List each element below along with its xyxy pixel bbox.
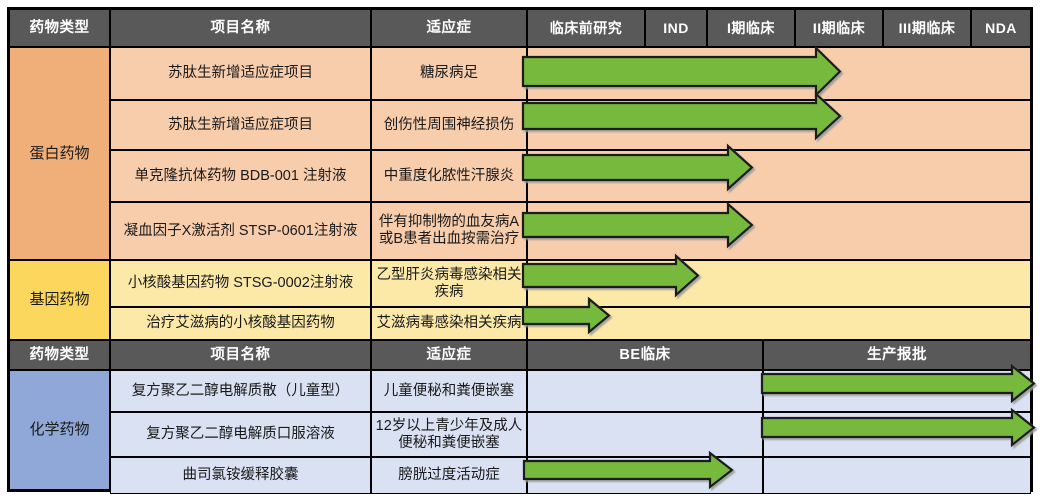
- header-phase3: III期临床: [883, 9, 971, 47]
- pipeline-table: 药物类型 项目名称 适应症 临床前研究 IND I期临床 II期临床 III期临…: [7, 7, 1033, 492]
- row-project-p2: 苏肽生新增适应症项目: [110, 100, 371, 150]
- header-preclinical: 临床前研究: [527, 9, 645, 47]
- row-timeline-p2: [527, 100, 1031, 150]
- row-indication-c3: 膀胱过度活动症: [371, 457, 527, 494]
- row-indication-p2: 创伤性周围神经损伤: [371, 100, 527, 150]
- row-indication-p3: 中重度化脓性汗腺炎: [371, 150, 527, 202]
- row-indication-p4-line1: 伴有抑制物的血友病A: [379, 214, 519, 231]
- row-project-p3: 单克隆抗体药物 BDB-001 注射液: [110, 150, 371, 202]
- pipeline-chart: 药物类型 项目名称 适应症 临床前研究 IND I期临床 II期临床 III期临…: [0, 0, 1040, 499]
- row-project-c3: 曲司氯铵缓释胶囊: [110, 457, 371, 494]
- row-indication-p1: 糖尿病足: [371, 47, 527, 100]
- category-protein: 蛋白药物: [9, 47, 110, 260]
- header2-project-name: 项目名称: [110, 340, 371, 370]
- row-timeline-p3: [527, 150, 1031, 202]
- row-indication-g1-line2: 疾病: [435, 284, 464, 301]
- row-indication-p4: 伴有抑制物的血友病A 或B患者出血按需治疗: [371, 202, 527, 260]
- header2-drug-type: 药物类型: [9, 340, 110, 370]
- row-project-p1: 苏肽生新增适应症项目: [110, 47, 371, 100]
- row-timeline-p1: [527, 47, 1031, 100]
- row-indication-c2-line2: 便秘和粪便嵌塞: [398, 435, 500, 452]
- row-timeline-c2-approval: [763, 412, 1031, 457]
- header-phase1: I期临床: [707, 9, 795, 47]
- row-project-g1: 小核酸基因药物 STSG-0002注射液: [110, 260, 371, 307]
- row-indication-c2-line1: 12岁以上青少年及成人: [376, 418, 523, 435]
- category-gene: 基因药物: [9, 260, 110, 340]
- header-ind: IND: [645, 9, 707, 47]
- row-project-p4: 凝血因子X激活剂 STSP-0601注射液: [110, 202, 371, 260]
- row-indication-c1: 儿童便秘和粪便嵌塞: [371, 370, 527, 412]
- row-timeline-c1-approval: [763, 370, 1031, 412]
- row-indication-p4-line2: 或B患者出血按需治疗: [379, 231, 519, 248]
- category-chemical: 化学药物: [9, 370, 110, 490]
- row-timeline-g2: [527, 307, 1031, 340]
- row-timeline-c3-approval: [763, 457, 1031, 494]
- row-project-c2: 复方聚乙二醇电解质口服溶液: [110, 412, 371, 457]
- row-indication-g2: 艾滋病毒感染相关疾病: [371, 307, 527, 340]
- row-timeline-c3-be: [527, 457, 763, 494]
- row-indication-c2: 12岁以上青少年及成人 便秘和粪便嵌塞: [371, 412, 527, 457]
- header2-production-approval: 生产报批: [763, 340, 1031, 370]
- row-indication-g1-line1: 乙型肝炎病毒感染相关: [377, 267, 522, 284]
- header-indication: 适应症: [371, 9, 527, 47]
- row-project-c1: 复方聚乙二醇电解质散（儿童型）: [110, 370, 371, 412]
- header-phase2: II期临床: [795, 9, 883, 47]
- row-indication-g1: 乙型肝炎病毒感染相关 疾病: [371, 260, 527, 307]
- row-timeline-c1-be: [527, 370, 763, 412]
- row-timeline-p4: [527, 202, 1031, 260]
- row-timeline-c2-be: [527, 412, 763, 457]
- header-project-name: 项目名称: [110, 9, 371, 47]
- header-nda: NDA: [971, 9, 1031, 47]
- header-drug-type: 药物类型: [9, 9, 110, 47]
- header2-indication: 适应症: [371, 340, 527, 370]
- row-timeline-g1: [527, 260, 1031, 307]
- header2-be-clinical: BE临床: [527, 340, 763, 370]
- row-project-g2: 治疗艾滋病的小核酸基因药物: [110, 307, 371, 340]
